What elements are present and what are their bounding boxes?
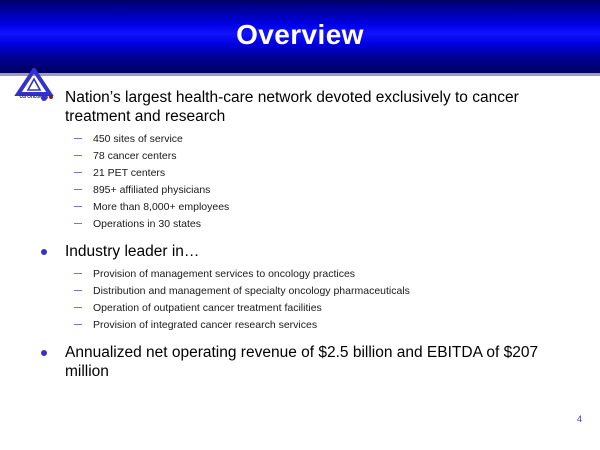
- sub-bullet-item: More than 8,000+ employees: [0, 199, 600, 216]
- sub-bullet-item: 78 cancer centers: [0, 148, 600, 165]
- sub-bullet-text: More than 8,000+ employees: [93, 201, 229, 213]
- dash-marker-icon: [74, 307, 82, 308]
- sub-bullet-item: Distribution and management of specialty…: [0, 283, 600, 300]
- sub-bullet-item: 21 PET centers: [0, 165, 600, 182]
- dash-marker-icon: [74, 273, 82, 274]
- bullet-text: Annualized net operating revenue of $2.5…: [65, 343, 600, 381]
- sub-bullet-text: 895+ affiliated physicians: [93, 184, 210, 196]
- bullet-item: Industry leader in…: [0, 242, 600, 261]
- sub-bullet-text: Provision of integrated cancer research …: [93, 319, 317, 331]
- sub-bullet-item: Provision of management services to onco…: [0, 266, 600, 283]
- sub-bullet-item: 450 sites of service: [0, 131, 600, 148]
- bullet-text: Industry leader in…: [65, 242, 600, 261]
- sub-bullet-item: Operation of outpatient cancer treatment…: [0, 300, 600, 317]
- sub-bullet-item: Provision of integrated cancer research …: [0, 317, 600, 334]
- bullet-item: Annualized net operating revenue of $2.5…: [0, 343, 600, 381]
- dash-marker-icon: [74, 189, 82, 190]
- slide-body: Nation’s largest health-care network dev…: [0, 88, 600, 381]
- bullet-marker-icon: [41, 95, 47, 101]
- sub-bullet-text: Operations in 30 states: [93, 218, 201, 230]
- dash-marker-icon: [74, 223, 82, 224]
- dash-marker-icon: [74, 290, 82, 291]
- sub-bullet-text: 78 cancer centers: [93, 150, 176, 162]
- dash-marker-icon: [74, 155, 82, 156]
- dash-marker-icon: [74, 138, 82, 139]
- sub-bullet-item: Operations in 30 states: [0, 216, 600, 233]
- bullet-text: Nation’s largest health-care network dev…: [65, 88, 600, 126]
- sub-bullet-text: 450 sites of service: [93, 133, 183, 145]
- sub-bullet-text: 21 PET centers: [93, 167, 165, 179]
- spacer: [0, 334, 600, 343]
- sub-bullet-item: 895+ affiliated physicians: [0, 182, 600, 199]
- dash-marker-icon: [74, 206, 82, 207]
- header-underline-divider: [0, 73, 600, 76]
- page-title: Overview: [0, 18, 600, 52]
- bullet-marker-icon: [41, 350, 47, 356]
- sub-bullet-text: Distribution and management of specialty…: [93, 285, 410, 297]
- dash-marker-icon: [74, 172, 82, 173]
- spacer: [0, 233, 600, 242]
- bullet-marker-icon: [41, 249, 47, 255]
- sub-bullet-text: Operation of outpatient cancer treatment…: [93, 302, 322, 314]
- sub-bullet-text: Provision of management services to onco…: [93, 268, 355, 280]
- presentation-slide: Overview US Oncology Nation’s largest he…: [0, 0, 600, 450]
- dash-marker-icon: [74, 324, 82, 325]
- page-number: 4: [577, 414, 582, 424]
- bullet-item: Nation’s largest health-care network dev…: [0, 88, 600, 126]
